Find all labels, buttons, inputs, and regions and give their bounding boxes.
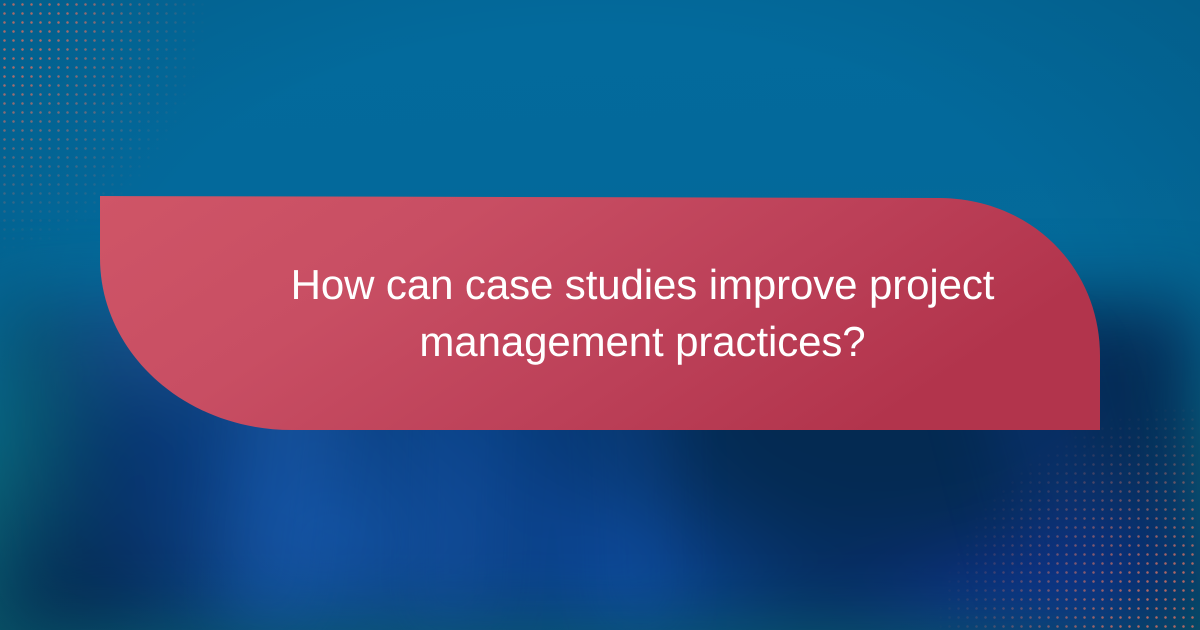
- page-title: How can case studies improve project man…: [100, 196, 1100, 430]
- question-card: How can case studies improve project man…: [0, 0, 1200, 630]
- headline-line-2: management practices?: [419, 313, 865, 370]
- headline-line-1: How can case studies improve project: [291, 256, 995, 313]
- question-banner: How can case studies improve project man…: [0, 0, 1200, 630]
